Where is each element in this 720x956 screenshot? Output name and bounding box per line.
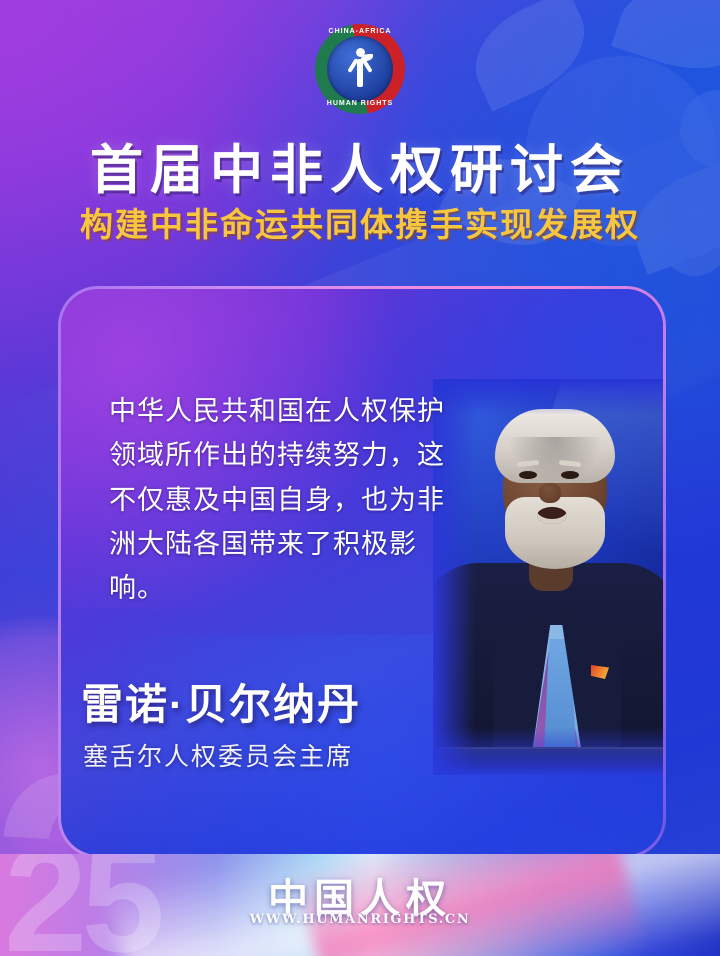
quote-card-inner: 中华人民共和国在人权保护领域所作出的持续努力，这不仅惠及中国自身，也为非洲大陆各… [61, 289, 663, 855]
emblem-bottom-text: HUMAN RIGHTS [301, 100, 419, 107]
china-africa-human-rights-logo-icon: CHINA-AFRICA HUMAN RIGHTS [301, 22, 419, 116]
speaker-name: 雷诺·贝尔纳丹 [81, 671, 361, 732]
page-title: 首届中非人权研讨会 [0, 128, 720, 204]
emblem-container: CHINA-AFRICA HUMAN RIGHTS [0, 22, 720, 116]
emblem-human-figure-icon [351, 48, 369, 88]
speaker-role: 塞舌尔人权委员会主席 [83, 737, 353, 773]
quote-card: 中华人民共和国在人权保护领域所作出的持续努力，这不仅惠及中国自身，也为非洲大陆各… [58, 286, 666, 858]
page-subtitle: 构建中非命运共同体携手实现发展权 [0, 198, 720, 246]
poster-root: 25 CHINA-AFRICA HUMAN RIGHTS 首届中非人权研讨会 构… [0, 0, 720, 956]
speaker-photo [433, 379, 663, 775]
footer-bar: 25 中国人权 WWW.HUMANRIGHTS.CN [0, 854, 720, 956]
emblem-top-text: CHINA-AFRICA [301, 28, 419, 35]
brand-url: WWW.HUMANRIGHTS.CN [0, 912, 720, 927]
quote-text: 中华人民共和国在人权保护领域所作出的持续努力，这不仅惠及中国自身，也为非洲大陆各… [109, 389, 455, 610]
